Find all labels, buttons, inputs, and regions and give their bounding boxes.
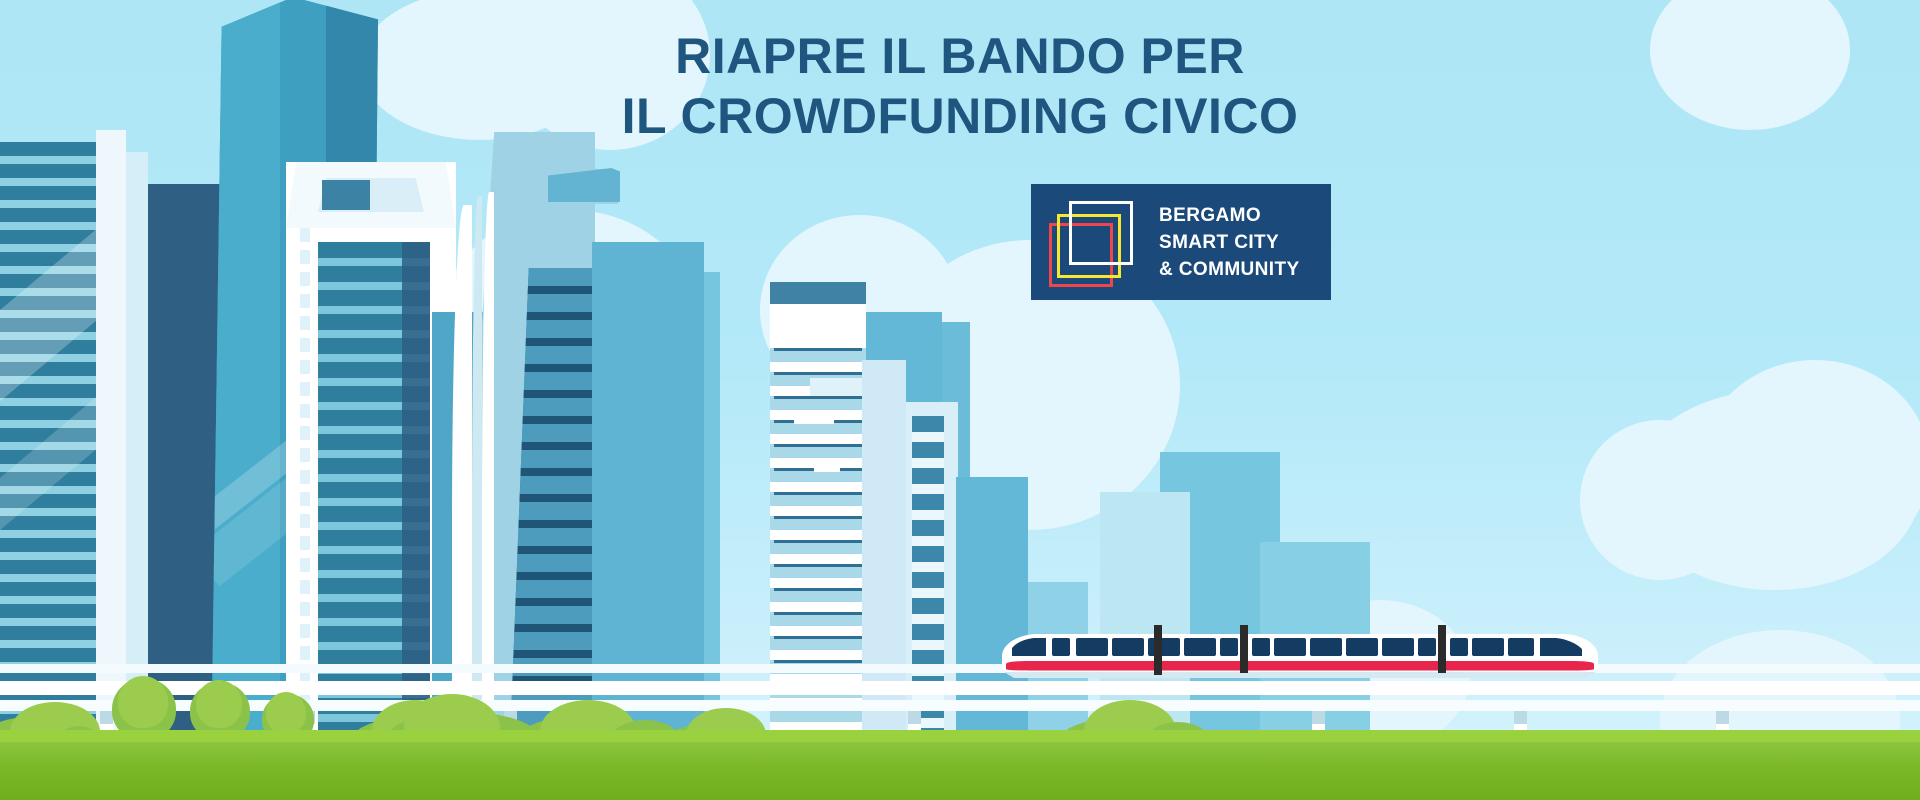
tree-crown-highlight — [196, 680, 242, 728]
sail-tower-rib — [482, 192, 494, 742]
logo-badge: BERGAMO SMART CITY & COMMUNITY — [1031, 184, 1331, 300]
sail-tower-rib — [472, 196, 482, 742]
grass-highlight — [0, 730, 1920, 742]
logo-text-line-1: BERGAMO — [1159, 202, 1300, 229]
ladder-tower-cap — [770, 282, 866, 304]
viaduct-rail-line — [0, 664, 1920, 673]
train-car-separator — [1438, 625, 1446, 673]
building-white-edge — [96, 130, 126, 742]
promo-banner: RIAPRE IL BANDO PER IL CROWDFUNDING CIVI… — [0, 0, 1920, 800]
logo-square-white — [1069, 201, 1133, 265]
train-shadow — [1004, 672, 1596, 678]
ladder-tower-shelf — [810, 378, 866, 396]
cloud-shape — [1630, 390, 1920, 590]
building-striped-tower — [0, 142, 100, 742]
viaduct-pillar-cap — [1514, 711, 1527, 724]
window-highlight — [794, 410, 834, 424]
train-car-separator — [1240, 625, 1248, 673]
train-windows — [1052, 638, 1534, 656]
viaduct-pillar-cap — [1716, 711, 1729, 724]
tree-crown-highlight — [266, 692, 306, 734]
crown-tower-ribs — [300, 228, 310, 728]
viaduct-pillar-cap — [1312, 711, 1325, 724]
building-dark-slab — [148, 184, 220, 742]
logo-text: BERGAMO SMART CITY & COMMUNITY — [1159, 202, 1300, 283]
tree-crown-highlight — [118, 676, 168, 728]
window-highlight — [814, 458, 840, 472]
train — [1000, 622, 1600, 688]
crown-opening-dark — [322, 180, 370, 210]
building-white-edge — [126, 152, 148, 742]
train-pole — [1154, 625, 1162, 675]
viaduct-pillar-cap — [908, 711, 921, 724]
train-stripe — [1006, 661, 1594, 671]
grass-strip — [0, 742, 1920, 800]
logo-squares-icon — [1049, 195, 1147, 289]
train-graphic — [1000, 622, 1600, 688]
logo-text-line-2: SMART CITY — [1159, 229, 1300, 256]
building-ladder-tower — [770, 282, 866, 742]
logo-text-line-3: & COMMUNITY — [1159, 256, 1300, 283]
